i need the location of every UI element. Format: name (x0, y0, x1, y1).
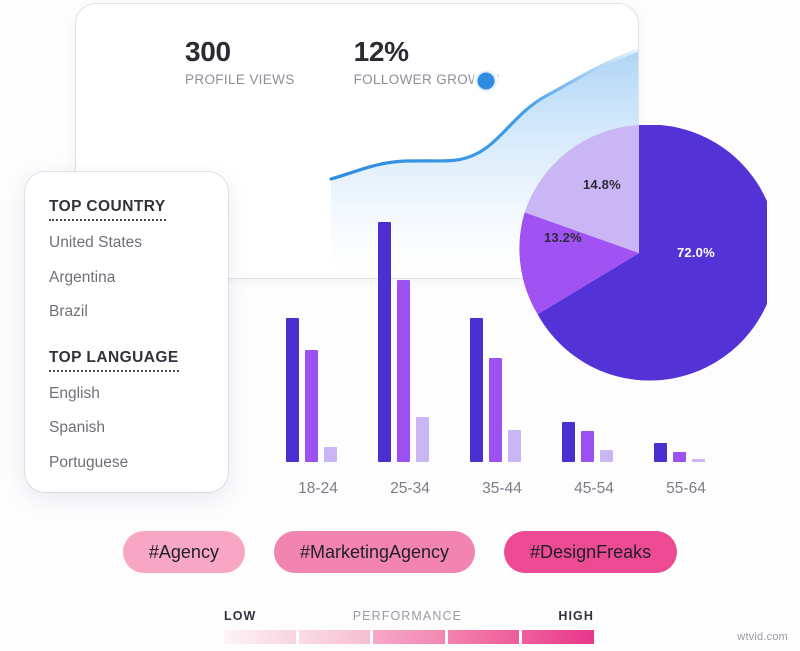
bar-25-34-s2 (397, 280, 410, 462)
bar-label-55-64: 55-64 (648, 480, 724, 498)
list-item: United States (49, 235, 228, 251)
chart-marker-dot (468, 63, 504, 99)
kpi-profile-views: 300 PROFILE VIEWS (185, 37, 295, 87)
audience-pie-chart: 72.0% 14.8% 13.2% (511, 125, 767, 381)
list-item: Brazil (49, 304, 228, 320)
bar-45-54-s2 (581, 431, 594, 462)
performance-legend-labels: LOW PERFORMANCE HIGH (224, 609, 594, 623)
bar-label-35-44: 35-44 (464, 480, 540, 498)
kpi-row: 300 PROFILE VIEWS 12% FOLLOWER GROWTH (185, 37, 500, 87)
top-country-heading: TOP COUNTRY (49, 198, 166, 221)
pie-label-15: 14.8% (583, 177, 621, 192)
legend-label-high: HIGH (558, 609, 594, 623)
hashtag-pill-designfreaks[interactable]: #DesignFreaks (504, 531, 677, 573)
legend-swatch-3 (373, 630, 445, 644)
bar-18-24-s1 (286, 318, 299, 462)
pie-slices (511, 125, 767, 381)
bar-55-64-s2 (673, 452, 686, 462)
audience-info-card: TOP COUNTRY United States Argentina Braz… (25, 172, 228, 492)
pie-label-72: 72.0% (677, 245, 715, 260)
performance-legend-scale (224, 630, 594, 644)
bar-55-64-s1 (654, 443, 667, 462)
top-language-list: English Spanish Portuguese (49, 386, 228, 471)
bar-25-34-s3 (416, 417, 429, 462)
bar-label-25-34: 25-34 (372, 480, 448, 498)
bar-35-44-s3 (508, 430, 521, 462)
legend-swatch-4 (448, 630, 520, 644)
bar-55-64-s3 (692, 459, 705, 462)
hashtag-pill-marketingagency[interactable]: #MarketingAgency (274, 531, 475, 573)
list-item: Argentina (49, 270, 228, 286)
list-item: English (49, 386, 228, 402)
bar-group-25-34 (378, 200, 429, 462)
top-language-heading: TOP LANGUAGE (49, 349, 179, 372)
bar-label-45-54: 45-54 (556, 480, 632, 498)
top-country-list: United States Argentina Brazil (49, 235, 228, 320)
kpi-profile-views-value: 300 (185, 37, 295, 66)
watermark: wtvid.com (737, 631, 788, 643)
performance-legend: LOW PERFORMANCE HIGH (224, 609, 594, 644)
pie-label-13: 13.2% (544, 230, 582, 245)
bar-35-44-s2 (489, 358, 502, 462)
bar-35-44-s1 (470, 318, 483, 462)
hashtag-pill-row: #Agency #MarketingAgency #DesignFreaks (0, 531, 800, 573)
legend-swatch-1 (224, 630, 296, 644)
legend-swatch-5 (522, 630, 594, 644)
kpi-profile-views-label: PROFILE VIEWS (185, 72, 295, 87)
bar-group-18-24 (286, 200, 337, 462)
dashboard-canvas: 300 PROFILE VIEWS 12% FOLLOWER GROWTH 72… (0, 0, 800, 651)
hashtag-pill-agency[interactable]: #Agency (123, 531, 245, 573)
kpi-follower-growth-value: 12% (354, 37, 500, 66)
bar-45-54-s3 (600, 450, 613, 462)
list-item: Portuguese (49, 455, 228, 471)
bar-18-24-s3 (324, 447, 337, 462)
bar-45-54-s1 (562, 422, 575, 462)
list-item: Spanish (49, 420, 228, 436)
legend-label-low: LOW (224, 609, 256, 623)
legend-swatch-2 (299, 630, 371, 644)
bar-18-24-s2 (305, 350, 318, 462)
legend-label-performance: PERFORMANCE (353, 609, 462, 623)
bar-25-34-s1 (378, 222, 391, 462)
bar-label-18-24: 18-24 (280, 480, 356, 498)
